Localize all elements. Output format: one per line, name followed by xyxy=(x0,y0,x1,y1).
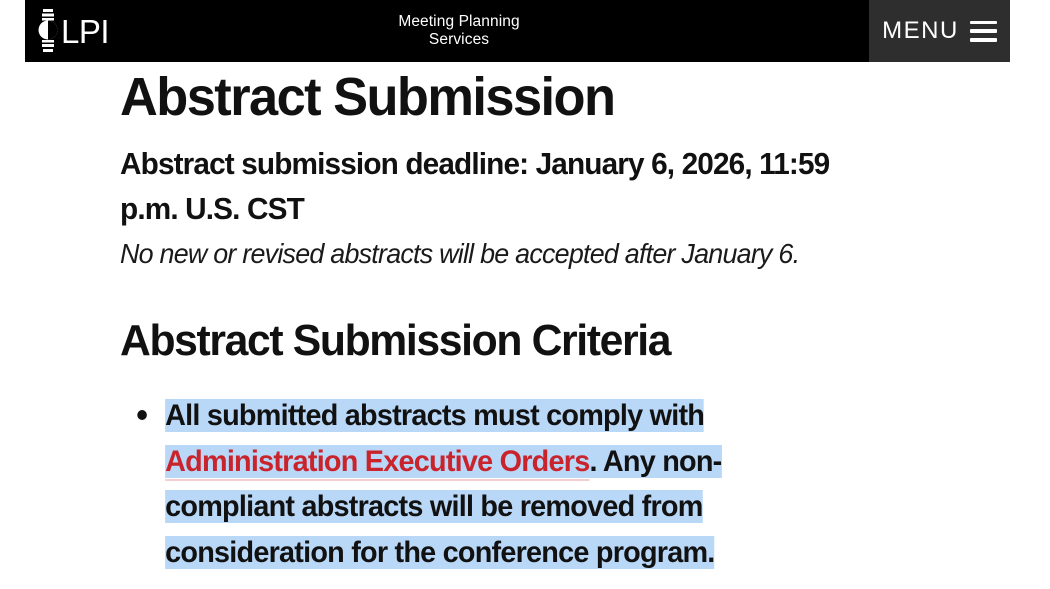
header-title-line-1: Meeting Planning xyxy=(398,13,519,31)
main-content: Abstract Submission Abstract submission … xyxy=(0,62,1050,575)
page-root: LPI Meeting Planning Services MENU Abstr… xyxy=(0,0,1050,589)
header-title-line-2: Services xyxy=(429,31,489,49)
menu-button[interactable]: MENU xyxy=(869,0,1010,62)
criteria-text-before-link: All submitted abstracts must comply with xyxy=(165,399,704,432)
criteria-list: All submitted abstracts must comply with… xyxy=(120,393,1020,575)
criteria-heading: Abstract Submission Criteria xyxy=(120,317,993,365)
header-site-title: Meeting Planning Services xyxy=(49,0,869,62)
bullet-icon xyxy=(137,410,147,420)
criteria-item-text: All submitted abstracts must comply with… xyxy=(165,399,721,569)
menu-button-label: MENU xyxy=(882,19,959,43)
deadline-subnote: No new or revised abstracts will be acce… xyxy=(120,236,984,272)
hamburger-icon xyxy=(970,21,997,42)
executive-orders-link[interactable]: Administration Executive Orders xyxy=(165,445,589,481)
list-item: All submitted abstracts must comply with… xyxy=(120,393,850,575)
deadline-text: Abstract submission deadline: January 6,… xyxy=(120,142,850,232)
page-title: Abstract Submission xyxy=(120,68,993,126)
site-header: LPI Meeting Planning Services MENU xyxy=(25,0,1010,62)
